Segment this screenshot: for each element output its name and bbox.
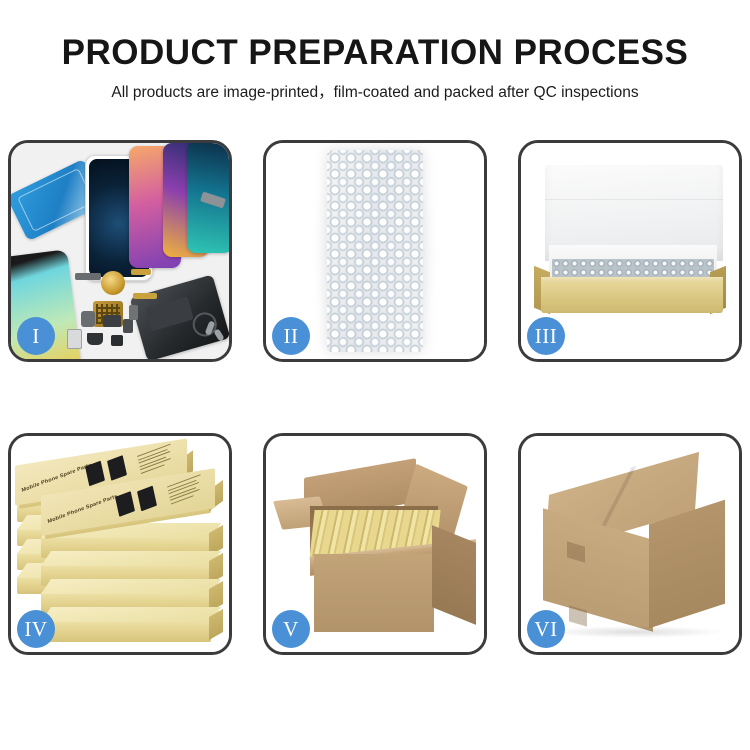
small-part-8 <box>87 333 103 345</box>
retail-box-label-phone-image-c <box>115 491 135 517</box>
small-part-6 <box>123 319 133 333</box>
retail-box-label-lines-upper <box>137 444 175 477</box>
retail-box-label-phone-image-d <box>137 486 157 512</box>
process-step-card-4: Mobile Phone Spare Parts Mobile Phone Sp… <box>8 433 232 655</box>
page-header: PRODUCT PREPARATION PROCESS All products… <box>0 0 750 103</box>
sealed-carton-shadow <box>543 626 727 638</box>
retail-box-label-text-lower: Mobile Phone Spare Parts <box>47 493 118 525</box>
retail-box-stack-row-4 <box>41 620 211 642</box>
carton-right-face <box>432 525 476 625</box>
step-badge-3: III <box>527 317 565 355</box>
step-badge-6: VI <box>527 610 565 648</box>
carton-front-face <box>314 554 434 632</box>
small-part-2 <box>131 269 151 275</box>
retail-box-label-phone-image-b <box>107 455 127 481</box>
speaker-coil-part <box>101 271 125 295</box>
step-badge-1: I <box>17 317 55 355</box>
page-subtitle: All products are image-printed，film-coat… <box>0 74 750 103</box>
small-part-3 <box>133 293 157 299</box>
step-badge-4: IV <box>17 610 55 648</box>
box-front-face <box>541 281 723 313</box>
small-part-7 <box>67 329 82 349</box>
small-part-1 <box>75 273 101 280</box>
process-step-card-2: II <box>263 140 487 362</box>
phone-logic-board <box>130 274 229 359</box>
small-part-4 <box>81 311 95 327</box>
page-title: PRODUCT PREPARATION PROCESS <box>0 0 750 74</box>
bubble-wrap-sheet <box>327 150 423 352</box>
small-part-9 <box>111 335 123 346</box>
step-badge-2: II <box>272 317 310 355</box>
process-step-grid: I II III <box>8 140 742 655</box>
process-step-card-3: III <box>518 140 742 362</box>
process-step-card-6: VI <box>518 433 742 655</box>
small-part-5 <box>103 315 121 327</box>
step-badge-5: V <box>272 610 310 648</box>
retail-box-label-phone-image-a <box>85 461 105 487</box>
small-part-10 <box>129 305 138 320</box>
retail-box-label-lines-lower <box>167 474 205 507</box>
process-step-card-5: V <box>263 433 487 655</box>
process-step-card-1: I <box>8 140 232 362</box>
